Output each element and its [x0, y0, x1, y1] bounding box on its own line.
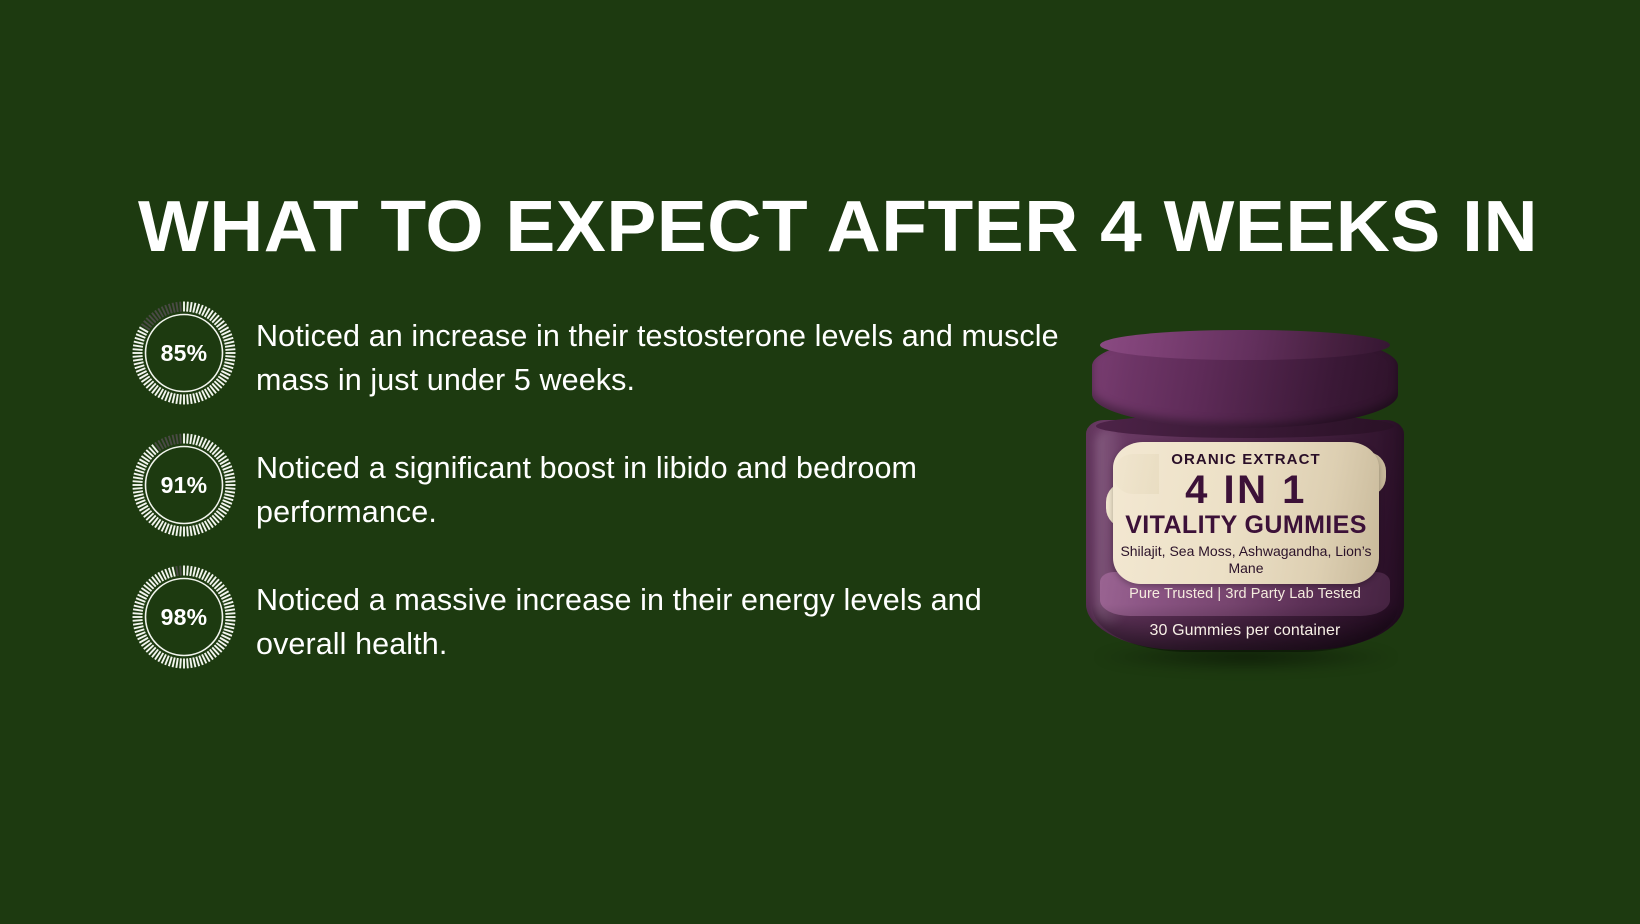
- progress-ring-91: 91%: [131, 432, 237, 538]
- stat-description: Noticed an increase in their testosteron…: [256, 298, 1061, 402]
- product-subheadline: VITALITY GUMMIES: [1125, 512, 1367, 539]
- product-jar-image: Pure Trusted | 3rd Party Lab Tested ORAN…: [1086, 332, 1404, 684]
- jar-lid-top: [1100, 330, 1390, 360]
- stat-row: 85% Noticed an increase in their testost…: [131, 298, 1061, 412]
- poster-canvas: WHAT TO EXPECT AFTER 4 WEEKS IN 85% Noti…: [0, 0, 1640, 924]
- jar-count-text: 30 Gummies per container: [1092, 622, 1398, 640]
- stat-row: 91% Noticed a significant boost in libid…: [131, 430, 1061, 544]
- product-headline: 4 IN 1: [1185, 469, 1307, 511]
- stat-percent-label: 98%: [131, 564, 237, 670]
- stat-row: 98% Noticed a massive increase in their …: [131, 562, 1061, 676]
- jar-label-content: ORANIC EXTRACT 4 IN 1 VITALITY GUMMIES S…: [1113, 442, 1379, 584]
- progress-ring-85: 85%: [131, 300, 237, 406]
- stat-percent-label: 85%: [131, 300, 237, 406]
- product-ingredients: Shilajit, Sea Moss, Ashwagandha, Lion’s …: [1120, 543, 1372, 577]
- product-kicker: ORANIC EXTRACT: [1171, 451, 1321, 468]
- stat-percent-label: 91%: [131, 432, 237, 538]
- stats-list: 85% Noticed an increase in their testost…: [131, 298, 1061, 676]
- progress-ring-98: 98%: [131, 564, 237, 670]
- page-title: WHAT TO EXPECT AFTER 4 WEEKS IN: [138, 186, 1511, 268]
- stat-description: Noticed a massive increase in their ener…: [256, 562, 1061, 666]
- stat-description: Noticed a significant boost in libido an…: [256, 430, 1061, 534]
